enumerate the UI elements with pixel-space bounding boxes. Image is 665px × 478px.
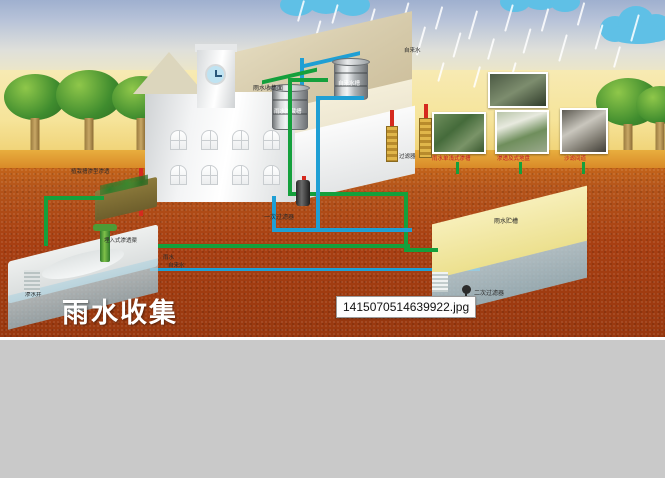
label-drain-well: 渗水井 [25,293,42,299]
label-tap-tank: 自来水槽 [338,82,360,88]
rainwater-system-illustration: 雨水收集面 雨水贮藏槽 自来水槽 自来水 过滤器 雨水单浅式渗槽 渗透及式地盘 [0,0,665,337]
pipe-green-cistern-inlet [404,248,438,252]
window [170,165,187,185]
illustration-title: 雨水收集 [62,291,178,330]
building-gable-roof [133,52,205,94]
cistern-inlet-gravel [432,272,448,292]
photo-top-field[interactable] [488,72,548,108]
label-filter-columns: 过滤器 [399,155,416,161]
photo-green-wall[interactable] [432,112,486,154]
label-secondary-filter: 二次过滤器 [474,291,504,297]
window [263,130,280,150]
window [232,130,249,150]
label-embedded-well: 埋入式渗透渠 [104,239,137,245]
label-primary-filter: 一次过滤器 [264,215,294,221]
clock-icon [205,64,226,85]
window [170,130,187,150]
filter-column [386,126,398,162]
photo-garden-channel[interactable] [495,110,549,154]
image-filename-tooltip: 1415070514639922.jpg [336,296,476,318]
window [201,130,218,150]
tree [636,86,665,156]
pipe-blue-vertical [316,96,320,194]
pipe-green-photo-1 [456,162,459,174]
photo-caption: 渗透及式地盘 [497,157,530,163]
pipe-blue-to-well [150,268,480,271]
label-sunken-planter: 植栽槽渗型渗透 [71,170,110,176]
pipe-green-down-2 [404,192,408,248]
primary-filter-unit [296,180,310,206]
photo-equipment-room[interactable] [560,108,608,154]
cloud-top-left [280,0,370,16]
well-pump-head [93,224,117,231]
pipe-green-photo-2 [519,162,522,174]
window [232,165,249,185]
filter-column [419,118,432,158]
pipe-blue-branch [316,96,364,100]
pipe-blue-bottom [272,228,412,232]
pipe-blue-feed [316,192,320,232]
label-tap-water-top: 自来水 [404,49,421,55]
label-rainwater-flow: 雨水 [163,256,174,262]
pipe-green-long-left [120,244,410,248]
about-banner: About Rainwater Harvesting System 雨水收集系统 [0,340,665,478]
window [263,165,280,185]
photo-caption: 雨水单浅式渗槽 [432,157,471,163]
label-tapwater-flow: 自来水 [168,264,185,270]
page-root: 雨水收集面 雨水贮藏槽 自来水槽 自来水 过滤器 雨水单浅式渗槽 渗透及式地盘 [0,0,665,478]
pipe-blue-down-left [272,196,276,230]
pipe-green-photo-3 [582,162,585,174]
window [201,165,218,185]
pipe-green-planter [44,196,48,246]
label-roof-collection: 雨水收集面 [253,86,283,92]
label-cistern: 雨水贮槽 [494,219,518,225]
pipe-green-to-tank [288,78,328,82]
drain-well-gravel [24,270,40,292]
pipe-green-vertical [288,78,292,196]
pipe-green-planter-h [44,196,104,200]
well-pump [100,228,110,262]
